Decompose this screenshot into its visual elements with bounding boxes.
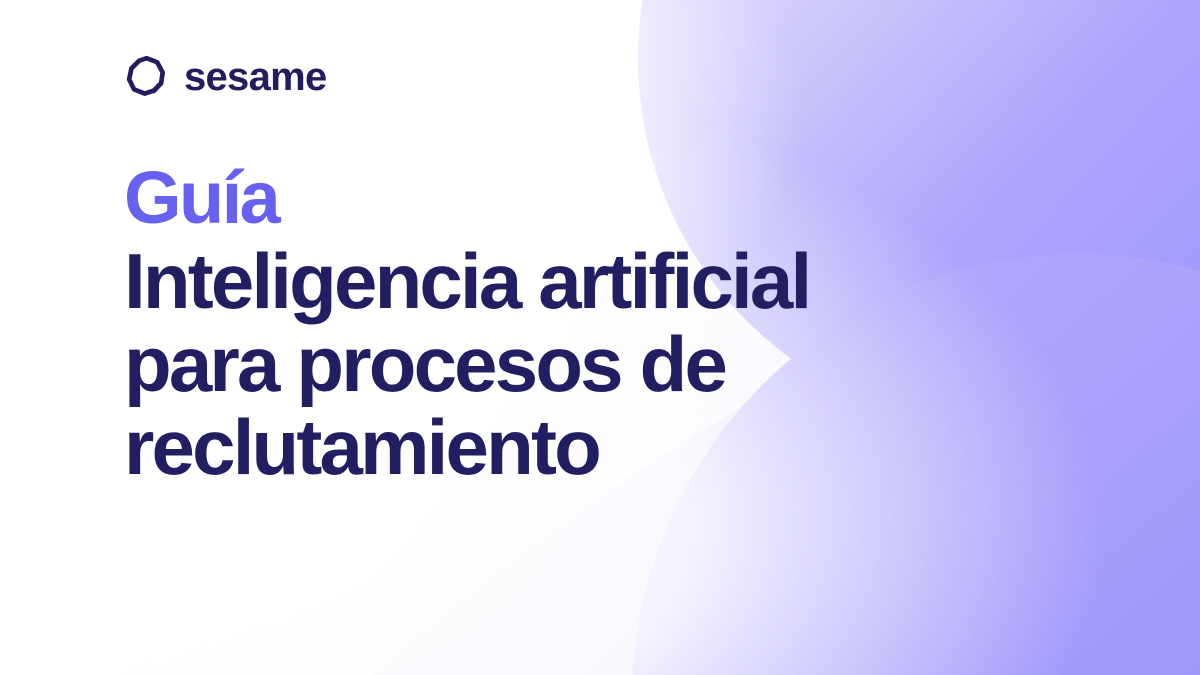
cover-headline-block: Guía Inteligencia artificial para proces… [124,162,1200,489]
cover-title-line-2: para procesos de [124,323,1200,406]
cover-content: sesame Guía Inteligencia artificial para… [0,0,1200,675]
cover-title: Inteligencia artificial para procesos de… [124,240,1200,489]
guide-cover-slide: sesame Guía Inteligencia artificial para… [0,0,1200,675]
brand-logo[interactable]: sesame [124,52,326,100]
brand-wordmark: sesame [184,57,326,97]
cover-title-line-1: Inteligencia artificial [124,240,1200,323]
cover-title-line-3: reclutamiento [124,406,1200,489]
sesame-heptagon-icon [124,54,168,98]
cover-eyebrow: Guía [124,162,1200,234]
